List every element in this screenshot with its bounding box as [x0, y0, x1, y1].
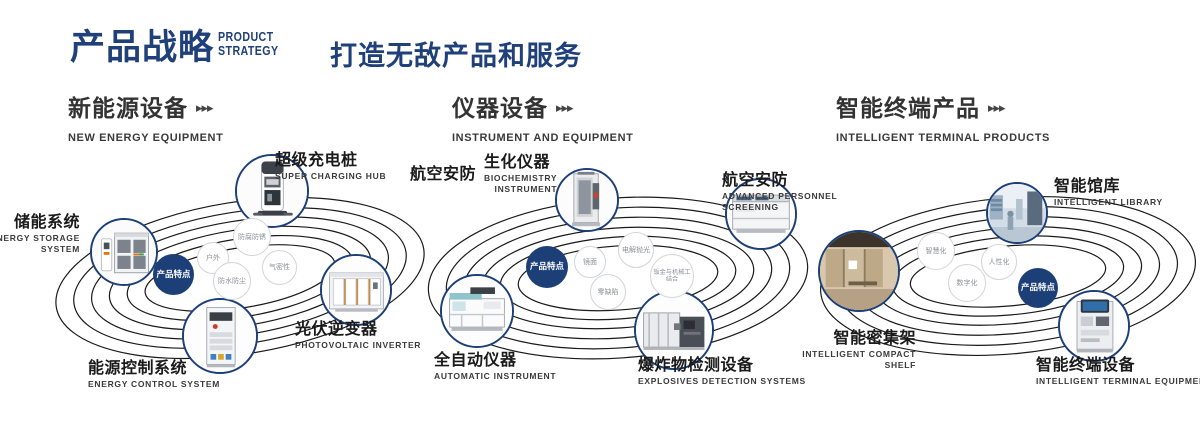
keyword-bubble-2: 人性化	[981, 244, 1017, 280]
label-en-line: SHELF	[776, 360, 916, 371]
keyword-label: 人性化	[989, 258, 1010, 267]
label-en-line: INTELLIGENT TERMINAL EQUIPMENT	[1036, 376, 1200, 387]
label-en-line: INTELLIGENT COMPACT	[776, 349, 916, 360]
keyword-label: 钣金与机械工结合	[651, 269, 693, 284]
label-en-line: BIOCHEMISTRY	[484, 173, 557, 184]
label-en: INTELLIGENT LIBRARY	[1054, 197, 1163, 208]
keyword-label: 智慧化	[926, 247, 947, 256]
label-cn: 智能终端设备	[1036, 355, 1200, 374]
keyword-label: 气密性	[269, 263, 290, 272]
keyword-bubble-0: 智慧化	[917, 232, 955, 270]
page-title-english-line1: PRODUCT	[218, 30, 279, 44]
keyword-label: 数字化	[957, 279, 978, 288]
label-en: SUPER CHARGING HUB	[275, 171, 386, 182]
keyword-bubble-3: 气密性	[262, 250, 297, 285]
page-title-english: PRODUCT STRATEGY	[218, 30, 279, 58]
label-cn: 智能密集架	[776, 328, 916, 347]
node-biochemistry-instrument[interactable]	[555, 168, 619, 232]
intelligent-terminal-equipment-photo	[1060, 292, 1128, 360]
cluster-intelligent-terminal: 智慧化 数字化 人性化 产品特点 智能馆库 INTELLIGENT LIBRAR…	[796, 150, 1200, 422]
label-automatic-instrument: 全自动仪器 AUTOMATIC INSTRUMENT	[434, 350, 556, 382]
center-bubble-label: 产品特点	[530, 262, 564, 272]
node-intelligent-library[interactable]	[986, 182, 1048, 244]
section-title-en: INTELLIGENT TERMINAL PRODUCTS	[836, 132, 1050, 144]
label-cn: 全自动仪器	[434, 350, 556, 369]
center-bubble-product-features: 产品特点	[526, 246, 568, 288]
center-bubble-product-features: 产品特点	[153, 254, 194, 295]
label-en-line: SUPER CHARGING HUB	[275, 171, 386, 182]
center-bubble-label: 产品特点	[156, 270, 190, 280]
label-cn: 生化仪器	[484, 152, 557, 171]
label-en-line: ENERGY CONTROL SYSTEM	[88, 379, 220, 390]
label-cn: 超级充电桩	[275, 150, 386, 169]
intelligent-library-photo	[988, 184, 1046, 242]
center-bubble-product-features: 产品特点	[1018, 268, 1058, 308]
section-title-en: INSTRUMENT AND EQUIPMENT	[452, 132, 633, 144]
cluster-instrument: 产品特点 镜面 电解抛光 零缺陷 钣金与机械工结合 航空安防 生化仪器 BIOC…	[412, 150, 832, 422]
photovoltaic-inverter-photo	[322, 256, 390, 324]
section-title-cn: 新能源设备▸▸▸	[68, 96, 223, 126]
section-title-cn: 智能终端产品▸▸▸	[836, 96, 1050, 126]
section-title-en: NEW ENERGY EQUIPMENT	[68, 132, 223, 144]
center-bubble-label: 产品特点	[1021, 283, 1055, 293]
section-title-new-energy: 新能源设备▸▸▸ NEW ENERGY EQUIPMENT	[68, 96, 223, 144]
biochemistry-instrument-photo	[557, 170, 617, 230]
node-intelligent-terminal-equipment[interactable]	[1058, 290, 1130, 362]
keyword-bubble-3: 钣金与机械工结合	[650, 254, 694, 298]
keyword-label: 户外	[206, 254, 220, 263]
section-title-intelligent-terminal: 智能终端产品▸▸▸ INTELLIGENT TERMINAL PRODUCTS	[836, 96, 1050, 144]
section-title-cn-text: 新能源设备	[68, 96, 188, 122]
label-aviation-security-left: 航空安防	[410, 164, 476, 183]
label-en: INTELLIGENT COMPACT SHELF	[776, 349, 916, 370]
keyword-label: 零缺陷	[598, 288, 619, 297]
label-energy-storage-system: 储能系统 ENERGY STORAGE SYSTEM	[0, 212, 80, 254]
label-en-line: INTELLIGENT LIBRARY	[1054, 197, 1163, 208]
label-en-line: ENERGY STORAGE	[0, 233, 80, 244]
page-title-english-line2: STRATEGY	[218, 44, 279, 58]
label-cn: 智能馆库	[1054, 176, 1163, 195]
keyword-label: 防水防尘	[218, 277, 246, 286]
label-intelligent-library: 智能馆库 INTELLIGENT LIBRARY	[1054, 176, 1163, 208]
label-en: INTELLIGENT TERMINAL EQUIPMENT	[1036, 376, 1200, 387]
label-intelligent-compact-shelf: 智能密集架 INTELLIGENT COMPACT SHELF	[776, 328, 916, 370]
label-en-line: PHOTOVOLTAIC INVERTER	[295, 340, 421, 351]
label-en: EXPLOSIVES DETECTION SYSTEMS	[638, 376, 806, 387]
label-en: BIOCHEMISTRY INSTRUMENT	[484, 173, 557, 194]
label-cn: 光伏逆变器	[295, 319, 421, 338]
label-super-charging-hub: 超级充电桩 SUPER CHARGING HUB	[275, 150, 386, 182]
label-en: ENERGY CONTROL SYSTEM	[88, 379, 220, 390]
keyword-label: 镜面	[583, 258, 597, 267]
energy-storage-system-photo	[92, 220, 156, 284]
cluster-new-energy: 产品特点 户外 防腐防锈 防水防尘 气密性 储能系统 ENERGY STORAG…	[30, 150, 450, 422]
chevron-right-icon: ▸▸▸	[988, 101, 1005, 116]
label-photovoltaic-inverter: 光伏逆变器 PHOTOVOLTAIC INVERTER	[295, 319, 421, 351]
label-biochemistry-instrument: 生化仪器 BIOCHEMISTRY INSTRUMENT	[484, 152, 557, 194]
poster-canvas: 产品战略 PRODUCT STRATEGY 打造无敌产品和服务 新能源设备▸▸▸…	[0, 0, 1200, 422]
label-en-line: SYSTEM	[0, 244, 80, 255]
keyword-label: 电解抛光	[622, 246, 650, 255]
keyword-bubble-2: 零缺陷	[590, 274, 626, 310]
label-en: AUTOMATIC INSTRUMENT	[434, 371, 556, 382]
poster-header: 产品战略 PRODUCT STRATEGY 打造无敌产品和服务	[0, 0, 1200, 92]
chevron-right-icon: ▸▸▸	[556, 101, 573, 116]
label-en-line: EXPLOSIVES DETECTION SYSTEMS	[638, 376, 806, 387]
chevron-right-icon: ▸▸▸	[196, 101, 213, 116]
section-title-cn: 仪器设备▸▸▸	[452, 96, 633, 126]
section-title-cn-text: 仪器设备	[452, 96, 548, 122]
section-title-instrument: 仪器设备▸▸▸ INSTRUMENT AND EQUIPMENT	[452, 96, 633, 144]
keyword-bubble-1: 数字化	[948, 264, 986, 302]
page-title: 产品战略	[70, 26, 214, 70]
intelligent-compact-shelf-photo	[820, 232, 898, 310]
keyword-bubble-1: 防腐防锈	[233, 218, 271, 256]
keyword-bubble-0: 镜面	[574, 246, 606, 278]
label-en: ENERGY STORAGE SYSTEM	[0, 233, 80, 254]
keyword-bubble-2: 防水防尘	[213, 262, 251, 300]
label-cn: 航空安防	[410, 164, 476, 183]
node-energy-storage-system[interactable]	[90, 218, 158, 286]
page-subtitle: 打造无敌产品和服务	[330, 34, 582, 73]
label-en-line: INSTRUMENT	[484, 184, 557, 195]
automatic-instrument-photo	[442, 276, 512, 346]
section-title-cn-text: 智能终端产品	[836, 96, 980, 122]
node-photovoltaic-inverter[interactable]	[320, 254, 392, 326]
keyword-label: 防腐防锈	[238, 233, 266, 242]
label-intelligent-terminal-equipment: 智能终端设备 INTELLIGENT TERMINAL EQUIPMENT	[1036, 355, 1200, 387]
keyword-bubble-1: 电解抛光	[618, 232, 654, 268]
node-intelligent-compact-shelf[interactable]	[818, 230, 900, 312]
label-cn: 能源控制系统	[88, 358, 220, 377]
label-energy-control-system: 能源控制系统 ENERGY CONTROL SYSTEM	[88, 358, 220, 390]
node-automatic-instrument[interactable]	[440, 274, 514, 348]
label-en: PHOTOVOLTAIC INVERTER	[295, 340, 421, 351]
label-cn: 储能系统	[0, 212, 80, 231]
label-en-line: AUTOMATIC INSTRUMENT	[434, 371, 556, 382]
